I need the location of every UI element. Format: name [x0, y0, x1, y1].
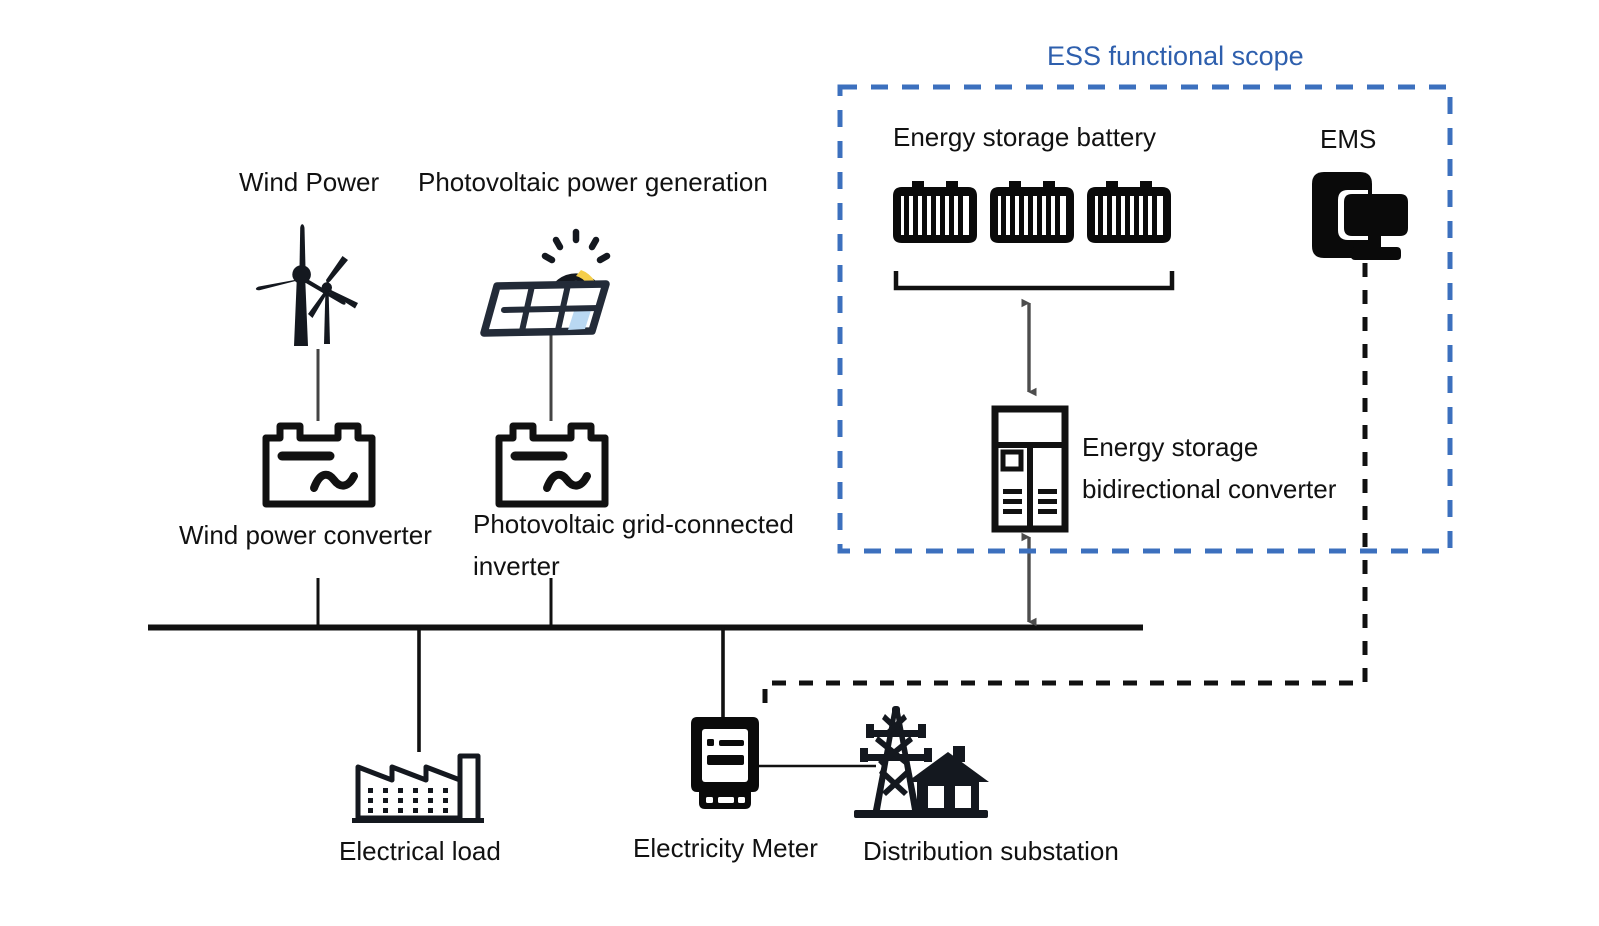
battery-icon — [1084, 178, 1174, 246]
battery-bracket — [896, 271, 1172, 288]
battery-icon — [987, 178, 1077, 246]
meter-icon — [687, 713, 763, 813]
bidirectional-converter-label-line1: Energy storage — [1082, 432, 1258, 463]
battery-label: Energy storage battery — [893, 122, 1156, 153]
converter-icon — [260, 420, 378, 510]
pv-inverter-label-line1: Photovoltaic grid-connected — [473, 509, 794, 540]
wind-turbine-icon — [252, 224, 382, 352]
converter-cabinet-icon — [991, 405, 1069, 533]
diagram-canvas: ESS functional scope Wind Power Photovol… — [0, 0, 1599, 926]
battery-icon — [890, 178, 980, 246]
solar-panel-icon — [480, 224, 620, 336]
inverter-icon — [493, 420, 611, 510]
wind-converter-label: Wind power converter — [179, 520, 432, 551]
bidirectional-converter-label-line2: bidirectional converter — [1082, 474, 1336, 505]
distribution-substation-label: Distribution substation — [863, 836, 1119, 867]
pv-generation-label: Photovoltaic power generation — [418, 167, 768, 198]
electricity-meter-label: Electricity Meter — [633, 833, 818, 864]
ess-scope-title: ESS functional scope — [1047, 41, 1304, 72]
computer-monitor-icon — [1308, 168, 1412, 264]
ems-label: EMS — [1320, 124, 1376, 155]
factory-icon — [352, 748, 484, 824]
electrical-load-label: Electrical load — [339, 836, 501, 867]
pv-inverter-label-line2: inverter — [473, 551, 560, 582]
pylon-house-icon — [852, 706, 988, 818]
wind-power-label: Wind Power — [239, 167, 379, 198]
